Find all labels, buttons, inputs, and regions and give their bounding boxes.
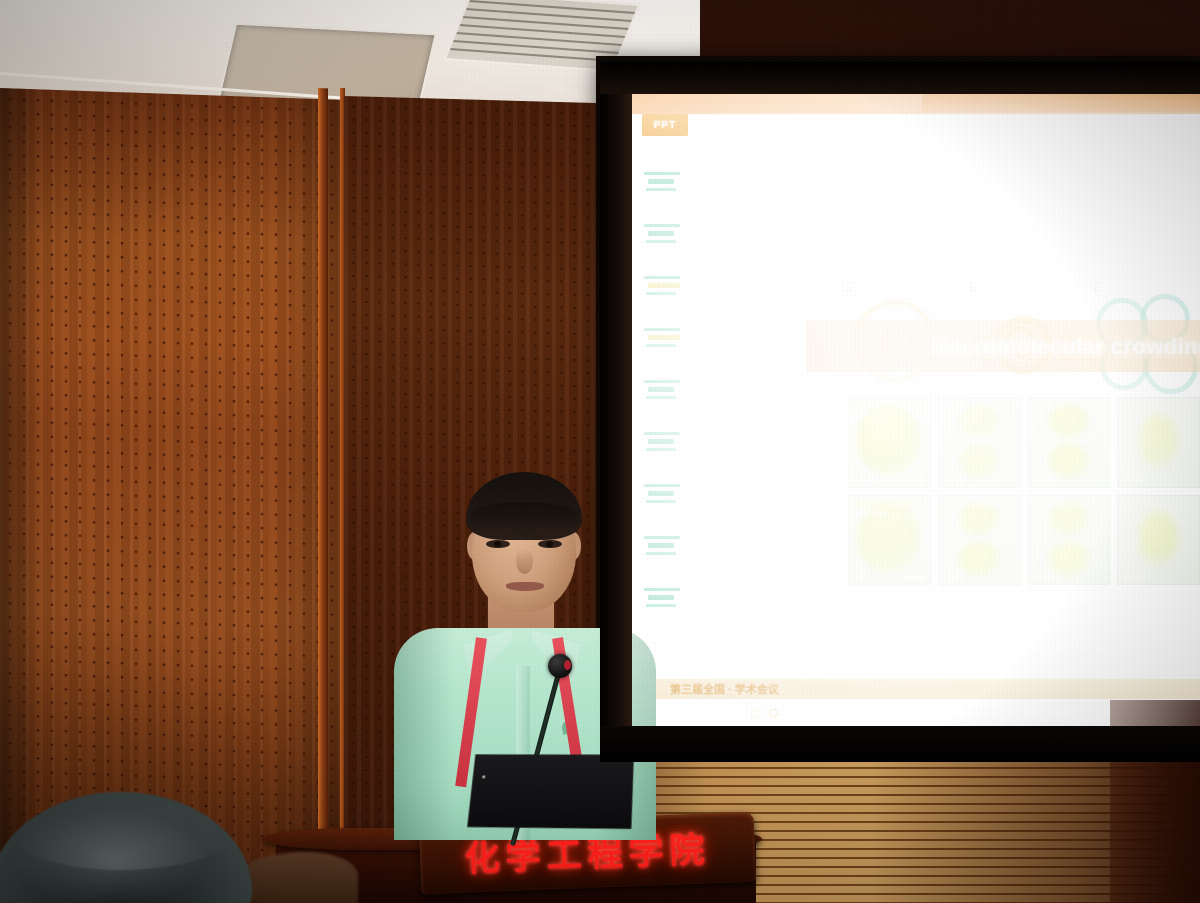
cell-caption: 10 min (1033, 572, 1056, 581)
presentation-slide: PPT a b (630, 92, 1200, 747)
cell-caption: 5 min (943, 475, 961, 484)
scale-bar (903, 479, 925, 482)
eye-right (538, 540, 562, 548)
microphone-icon (548, 654, 572, 678)
slide-thumbnail[interactable] (638, 224, 700, 250)
screen-bezel-top (600, 62, 1200, 94)
cell-caption: 0 s (853, 475, 863, 484)
cell-caption: 0 s (853, 572, 863, 581)
microscopy-cell: after shrinking GFP 1 % 0 s (848, 495, 931, 586)
projection-screen: PPT a b (630, 92, 1200, 747)
schematic-label-c: c (1094, 284, 1099, 294)
wall-shading (0, 88, 352, 903)
nose (516, 548, 533, 574)
fluorescent-droplet (1139, 414, 1178, 469)
laptop-indicator-light (482, 775, 485, 778)
slide-thumbnail[interactable] (638, 432, 700, 458)
microscopy-cell: 10 min (1028, 495, 1111, 586)
row-sublabel: GFP 1 % (853, 509, 885, 518)
screen-bezel-bottom (600, 726, 1200, 762)
microscopy-cell: 15 min (1117, 397, 1200, 488)
schematic-label-b: b (970, 284, 975, 294)
row-label-after: after shrinking (853, 499, 912, 509)
slide-thumbnail[interactable] (638, 172, 700, 198)
left-wood-wall (0, 88, 352, 903)
slide-thumbnail[interactable] (638, 380, 700, 406)
laptop[interactable] (467, 752, 638, 832)
cell-caption: 5 min (943, 572, 961, 581)
fluorescent-droplet (1139, 511, 1178, 566)
wall-trim-strip (318, 88, 328, 903)
footer-logo-icon: ◌ ○ (750, 702, 780, 725)
powerpoint-ribbon-right (922, 92, 1200, 112)
fluorescent-droplet (958, 542, 1000, 576)
microscopy-cell: before shrinking GFP 1 % 0 s (848, 397, 931, 488)
cell-caption: 10 min (1033, 475, 1056, 484)
fluorescent-droplet (1048, 444, 1090, 478)
shirt-shadow-left (394, 628, 454, 840)
hair (466, 472, 582, 540)
schematic-label-a: a (846, 284, 851, 294)
photo-scene: PPT a b (0, 0, 1200, 903)
fluorescent-droplet (1048, 503, 1090, 535)
fluorescent-droplet (958, 405, 1000, 437)
microscopy-cell: 10 min (1028, 397, 1111, 488)
screen-bezel-left (600, 62, 632, 760)
fluorescent-droplet (958, 444, 1000, 478)
fluorescent-droplet (1048, 542, 1090, 576)
row-label-before: before shrinking (853, 401, 920, 411)
cell-caption: 15 min (1122, 572, 1145, 581)
row-sublabel: GFP 1 % (853, 411, 885, 420)
slide-footer-text: 第三届全国 · 学术会议 (670, 681, 779, 697)
scale-bar (903, 576, 925, 579)
microscopy-cell: 15 min (1117, 495, 1200, 586)
microscopy-image-grid: before shrinking GFP 1 % 0 s 5 min 10 mi… (848, 397, 1200, 585)
slide-thumbnail[interactable] (638, 276, 700, 302)
microscopy-cell: 5 min (938, 495, 1021, 586)
fluorescent-droplet (1048, 405, 1090, 437)
fluorescent-droplet (958, 503, 1000, 535)
slide-thumbnail-selected[interactable] (638, 328, 700, 354)
mouth (506, 582, 544, 591)
powerpoint-badge: PPT (642, 114, 688, 136)
slide-title: Macromolecular crowding (930, 330, 1200, 364)
eye-left (486, 540, 510, 548)
audience-member-head (0, 792, 252, 903)
microscopy-cell: 5 min (938, 397, 1021, 488)
cell-caption: 15 min (1122, 475, 1145, 484)
